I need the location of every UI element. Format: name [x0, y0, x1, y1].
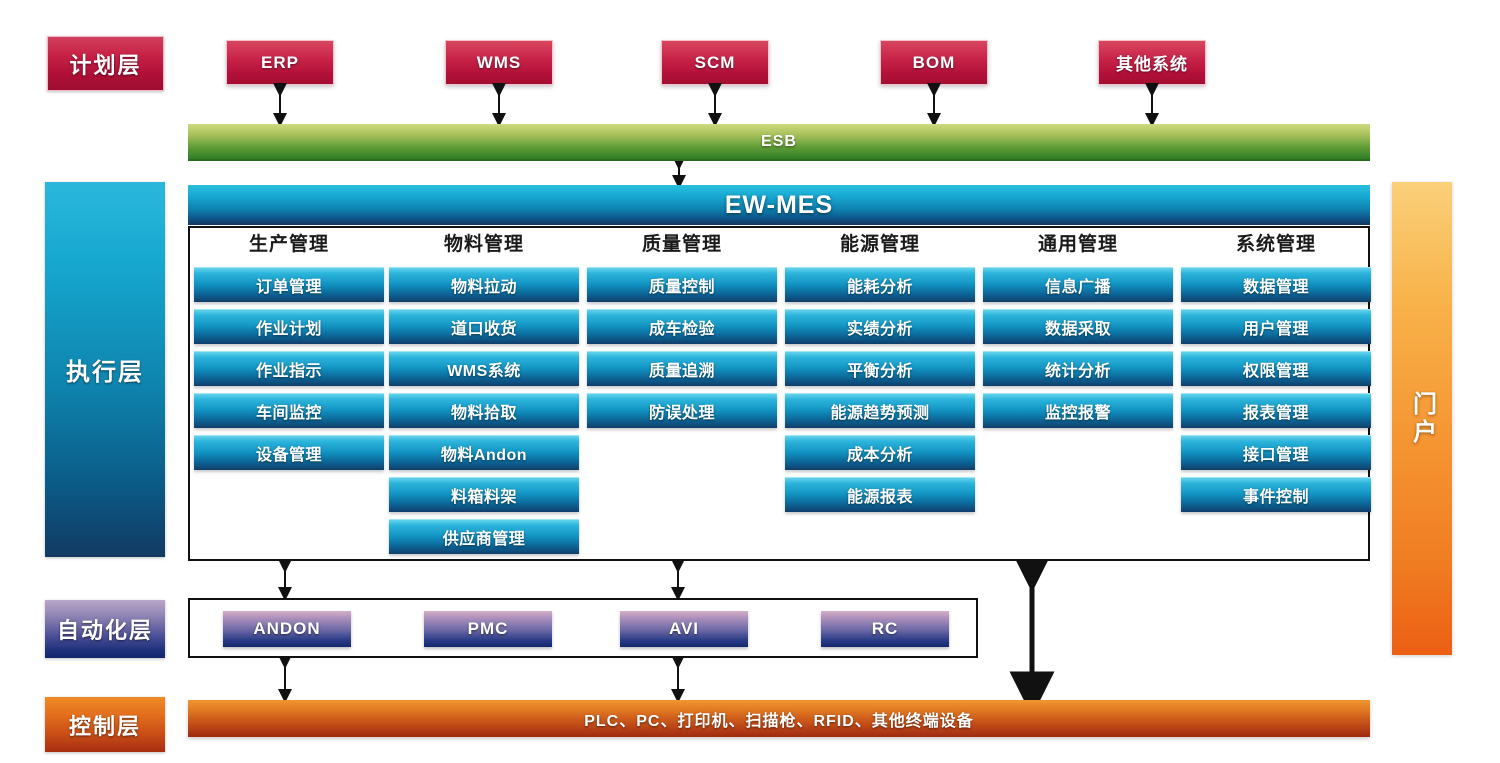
layer-label-control-text: 控制层: [69, 709, 141, 741]
module-item-event-control[interactable]: 事件控制: [1181, 477, 1371, 512]
layer-label-automation: 自动化层: [45, 600, 165, 658]
module-item-energy-trend-forecast[interactable]: 能源趋势预测: [785, 393, 975, 428]
layer-label-execution-text: 执行层: [66, 352, 144, 387]
module-item-material-pull[interactable]: 物料拉动: [389, 267, 579, 302]
automation-system-rc[interactable]: RC: [821, 611, 949, 647]
layer-label-planning: 计划层: [47, 36, 164, 91]
module-item-quality-control[interactable]: 质量控制: [587, 267, 777, 302]
planning-system-erp[interactable]: ERP: [226, 40, 334, 85]
layer-label-execution: 执行层: [45, 182, 165, 557]
module-item-vehicle-inspection[interactable]: 成车检验: [587, 309, 777, 344]
portal-bar[interactable]: 门户: [1392, 182, 1452, 655]
module-item-supplier-management[interactable]: 供应商管理: [389, 519, 579, 554]
mes-header-bar: EW-MES: [188, 185, 1370, 225]
module-item-wms-system[interactable]: WMS系统: [389, 351, 579, 386]
module-item-quality-traceability[interactable]: 质量追溯: [587, 351, 777, 386]
module-column-quality-title: 质量管理: [587, 232, 777, 260]
layer-label-automation-text: 自动化层: [57, 613, 153, 645]
module-column-quality: 质量管理 质量控制 成车检验 质量追溯 防误处理: [587, 232, 777, 428]
module-column-system: 系统管理 数据管理 用户管理 权限管理 报表管理 接口管理 事件控制: [1181, 232, 1371, 512]
automation-system-pmc[interactable]: PMC: [424, 611, 552, 647]
automation-system-avi-label: AVI: [669, 619, 699, 639]
module-item-bins-racks[interactable]: 料箱料架: [389, 477, 579, 512]
control-layer-bar: PLC、PC、打印机、扫描枪、RFID、其他终端设备: [188, 700, 1370, 737]
planning-system-other-label: 其他系统: [1116, 50, 1188, 75]
module-item-dock-receiving[interactable]: 道口收货: [389, 309, 579, 344]
module-column-general-title: 通用管理: [983, 232, 1173, 260]
planning-system-scm-label: SCM: [695, 53, 736, 73]
module-item-error-proofing[interactable]: 防误处理: [587, 393, 777, 428]
mes-title: EW-MES: [725, 191, 833, 220]
automation-layer-panel: ANDON PMC AVI RC: [188, 598, 978, 658]
module-item-job-instruction[interactable]: 作业指示: [194, 351, 384, 386]
module-item-data-management[interactable]: 数据管理: [1181, 267, 1371, 302]
module-item-material-andon[interactable]: 物料Andon: [389, 435, 579, 470]
module-item-balance-analysis[interactable]: 平衡分析: [785, 351, 975, 386]
planning-system-wms[interactable]: WMS: [445, 40, 553, 85]
automation-system-andon[interactable]: ANDON: [223, 611, 351, 647]
planning-system-bom[interactable]: BOM: [880, 40, 988, 85]
module-item-monitoring-alarm[interactable]: 监控报警: [983, 393, 1173, 428]
automation-system-pmc-label: PMC: [468, 619, 509, 639]
module-item-performance-analysis[interactable]: 实绩分析: [785, 309, 975, 344]
automation-system-andon-label: ANDON: [253, 619, 320, 639]
execution-layer-panel: 生产管理 订单管理 作业计划 作业指示 车间监控 设备管理 物料管理 物料拉动 …: [188, 226, 1370, 561]
module-column-production: 生产管理 订单管理 作业计划 作业指示 车间监控 设备管理: [194, 232, 384, 470]
module-item-equipment-management[interactable]: 设备管理: [194, 435, 384, 470]
planning-system-scm[interactable]: SCM: [661, 40, 769, 85]
module-item-cost-analysis[interactable]: 成本分析: [785, 435, 975, 470]
automation-system-rc-label: RC: [872, 619, 899, 639]
module-item-energy-report[interactable]: 能源报表: [785, 477, 975, 512]
module-item-user-management[interactable]: 用户管理: [1181, 309, 1371, 344]
module-column-energy-title: 能源管理: [785, 232, 975, 260]
automation-system-avi[interactable]: AVI: [620, 611, 748, 647]
module-item-job-plan[interactable]: 作业计划: [194, 309, 384, 344]
esb-bar: ESB: [188, 124, 1370, 161]
module-item-information-broadcast[interactable]: 信息广播: [983, 267, 1173, 302]
module-item-material-picking[interactable]: 物料拾取: [389, 393, 579, 428]
planning-system-wms-label: WMS: [477, 53, 522, 73]
esb-label: ESB: [761, 133, 797, 151]
control-layer-label: PLC、PC、打印机、扫描枪、RFID、其他终端设备: [584, 707, 974, 731]
layer-label-planning-text: 计划层: [69, 48, 141, 80]
module-item-statistical-analysis[interactable]: 统计分析: [983, 351, 1173, 386]
planning-system-other[interactable]: 其他系统: [1098, 40, 1206, 85]
module-column-system-title: 系统管理: [1181, 232, 1371, 260]
module-item-workshop-monitoring[interactable]: 车间监控: [194, 393, 384, 428]
planning-system-bom-label: BOM: [913, 53, 956, 73]
module-column-energy: 能源管理 能耗分析 实绩分析 平衡分析 能源趋势预测 成本分析 能源报表: [785, 232, 975, 512]
portal-label: 门户: [1405, 391, 1440, 447]
module-item-interface-management[interactable]: 接口管理: [1181, 435, 1371, 470]
layer-label-control: 控制层: [45, 697, 165, 752]
module-item-report-management[interactable]: 报表管理: [1181, 393, 1371, 428]
module-item-energy-consumption-analysis[interactable]: 能耗分析: [785, 267, 975, 302]
module-item-data-collection[interactable]: 数据采取: [983, 309, 1173, 344]
module-column-material-title: 物料管理: [389, 232, 579, 260]
module-item-permission-management[interactable]: 权限管理: [1181, 351, 1371, 386]
module-column-production-title: 生产管理: [194, 232, 384, 260]
module-item-order-management[interactable]: 订单管理: [194, 267, 384, 302]
module-column-material: 物料管理 物料拉动 道口收货 WMS系统 物料拾取 物料Andon 料箱料架 供…: [389, 232, 579, 554]
planning-system-erp-label: ERP: [261, 53, 299, 73]
module-column-general: 通用管理 信息广播 数据采取 统计分析 监控报警: [983, 232, 1173, 428]
